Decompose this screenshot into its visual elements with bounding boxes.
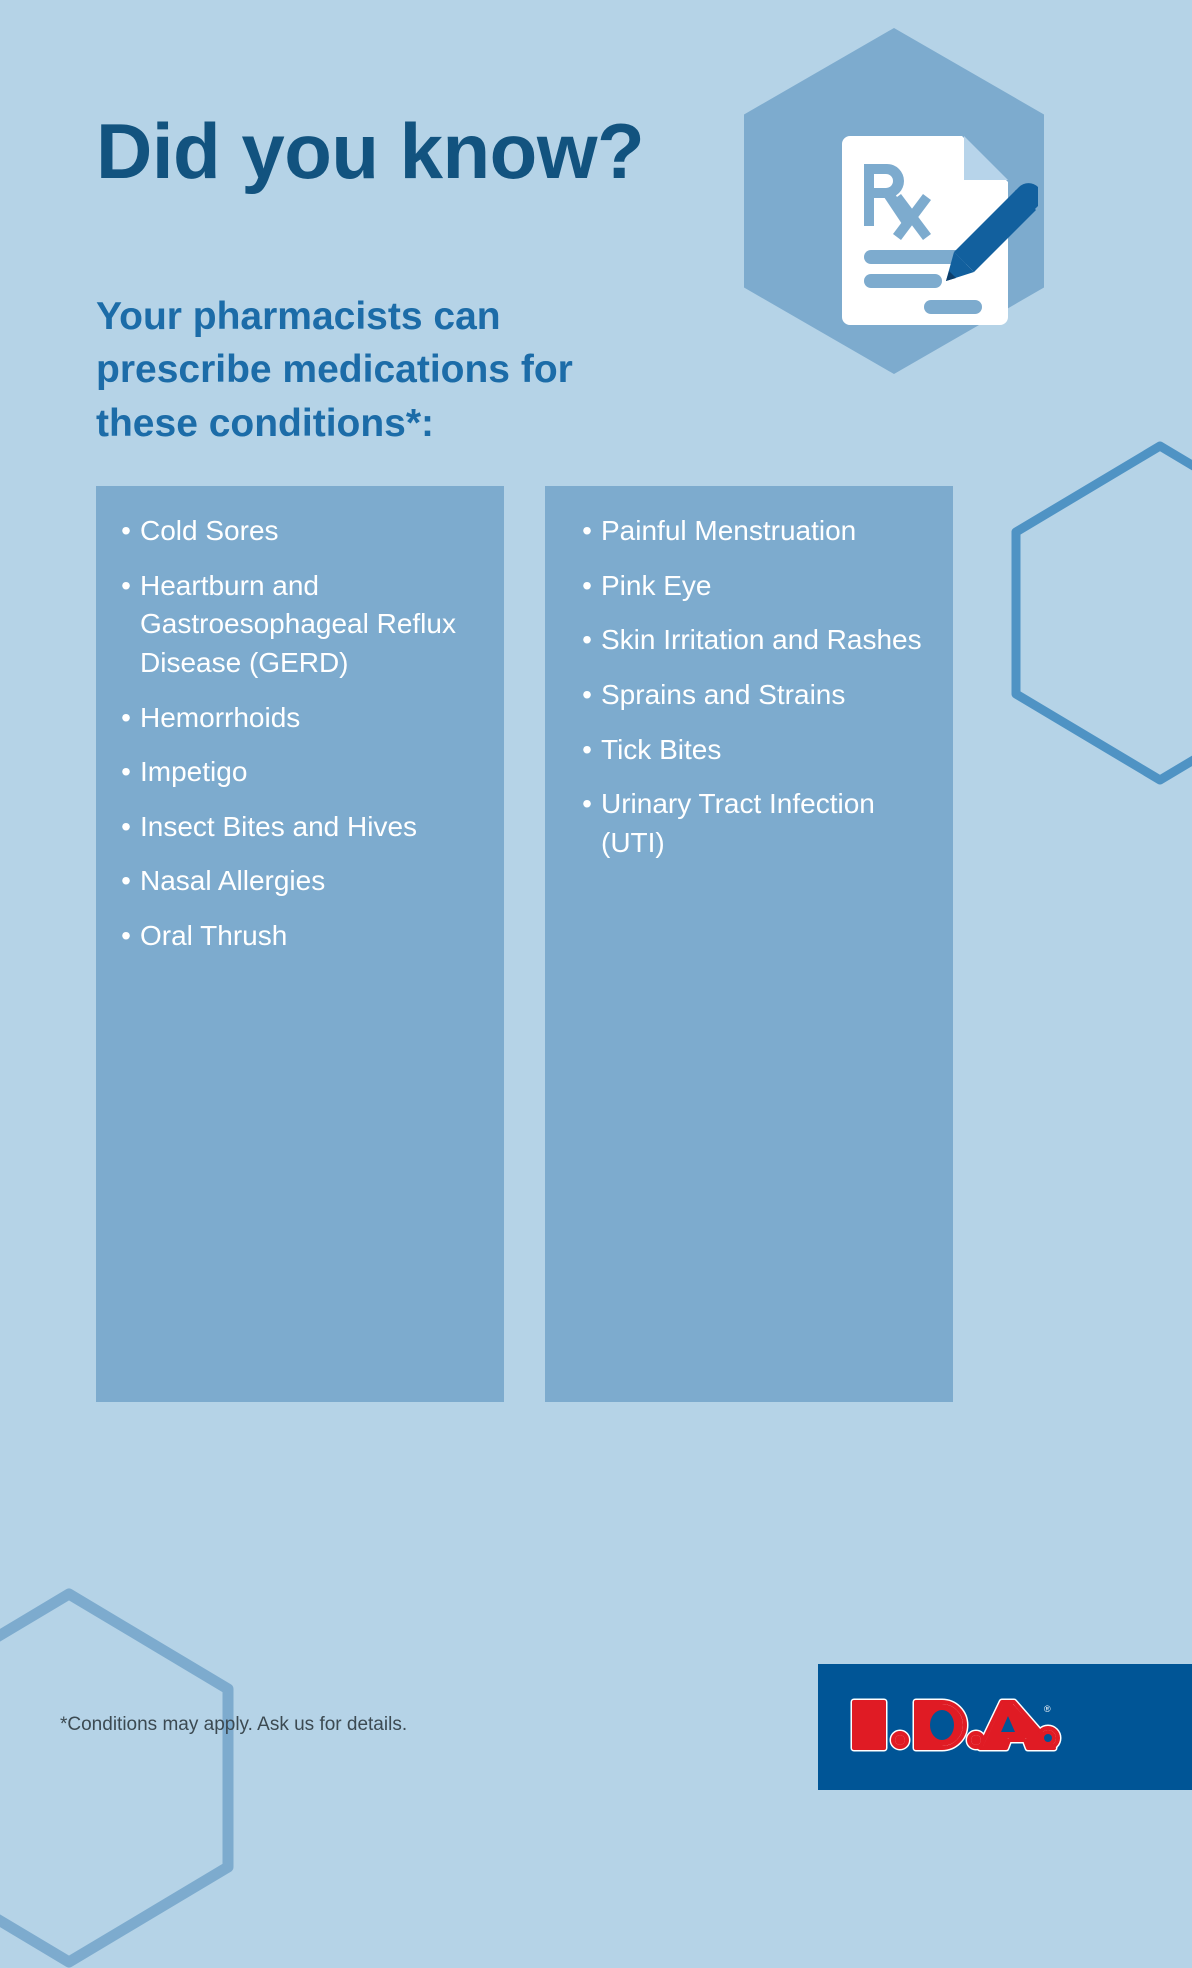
condition-list-item: •Cold Sores xyxy=(112,512,504,567)
condition-label: Cold Sores xyxy=(140,512,490,551)
condition-label: Impetigo xyxy=(140,753,490,792)
condition-label: Hemorrhoids xyxy=(140,699,490,738)
prescription-document-icon xyxy=(838,124,1038,329)
registered-mark: ® xyxy=(1044,1704,1051,1714)
condition-list-item: •Skin Irritation and Rashes xyxy=(573,621,953,676)
footnote-text: *Conditions may apply. Ask us for detail… xyxy=(60,1714,407,1736)
condition-list-item: •Urinary Tract Infection (UTI) xyxy=(573,785,953,878)
condition-label: Pink Eye xyxy=(601,567,939,606)
bullet-icon: • xyxy=(573,785,601,862)
condition-label: Painful Menstruation xyxy=(601,512,939,551)
conditions-panel-right: •Painful Menstruation•Pink Eye•Skin Irri… xyxy=(545,486,953,1402)
ida-logo-block: ® xyxy=(818,1664,1192,1790)
condition-list-item: •Insect Bites and Hives xyxy=(112,808,504,863)
bullet-icon: • xyxy=(573,567,601,606)
bullet-icon: • xyxy=(112,699,140,738)
condition-label: Oral Thrush xyxy=(140,917,490,956)
bullet-icon: • xyxy=(573,512,601,551)
page-title: Did you know? xyxy=(96,112,644,190)
condition-list-item: •Nasal Allergies xyxy=(112,862,504,917)
bullet-icon: • xyxy=(573,676,601,715)
condition-list-item: •Sprains and Strains xyxy=(573,676,953,731)
condition-list-item: •Painful Menstruation xyxy=(573,512,953,567)
conditions-panel-left: •Cold Sores•Heartburn and Gastroesophage… xyxy=(96,486,504,1402)
condition-label: Insect Bites and Hives xyxy=(140,808,490,847)
condition-label: Nasal Allergies xyxy=(140,862,490,901)
bullet-icon: • xyxy=(112,808,140,847)
condition-label: Sprains and Strains xyxy=(601,676,939,715)
condition-list-item: •Tick Bites xyxy=(573,731,953,786)
bullet-icon: • xyxy=(112,917,140,956)
condition-label: Tick Bites xyxy=(601,731,939,770)
condition-label: Skin Irritation and Rashes xyxy=(601,621,939,660)
bullet-icon: • xyxy=(573,621,601,660)
condition-label: Urinary Tract Infection (UTI) xyxy=(601,785,939,862)
hexagon-outline-icon xyxy=(1010,440,1192,786)
condition-label: Heartburn and Gastroesophageal Reflux Di… xyxy=(140,567,490,683)
conditions-list-left: •Cold Sores•Heartburn and Gastroesophage… xyxy=(96,512,504,972)
condition-list-item: •Heartburn and Gastroesophageal Reflux D… xyxy=(112,567,504,699)
condition-list-item: •Impetigo xyxy=(112,753,504,808)
hexagon-outline-icon xyxy=(0,1588,234,1968)
page-subtitle: Your pharmacists can prescribe medicatio… xyxy=(96,290,656,450)
conditions-list-right: •Painful Menstruation•Pink Eye•Skin Irri… xyxy=(545,512,953,878)
bullet-icon: • xyxy=(573,731,601,770)
condition-list-item: •Oral Thrush xyxy=(112,917,504,972)
bullet-icon: • xyxy=(112,512,140,551)
bullet-icon: • xyxy=(112,862,140,901)
bullet-icon: • xyxy=(112,567,140,683)
ida-logo-icon: ® xyxy=(848,1690,1064,1760)
condition-list-item: •Pink Eye xyxy=(573,567,953,622)
condition-list-item: •Hemorrhoids xyxy=(112,699,504,754)
bullet-icon: • xyxy=(112,753,140,792)
